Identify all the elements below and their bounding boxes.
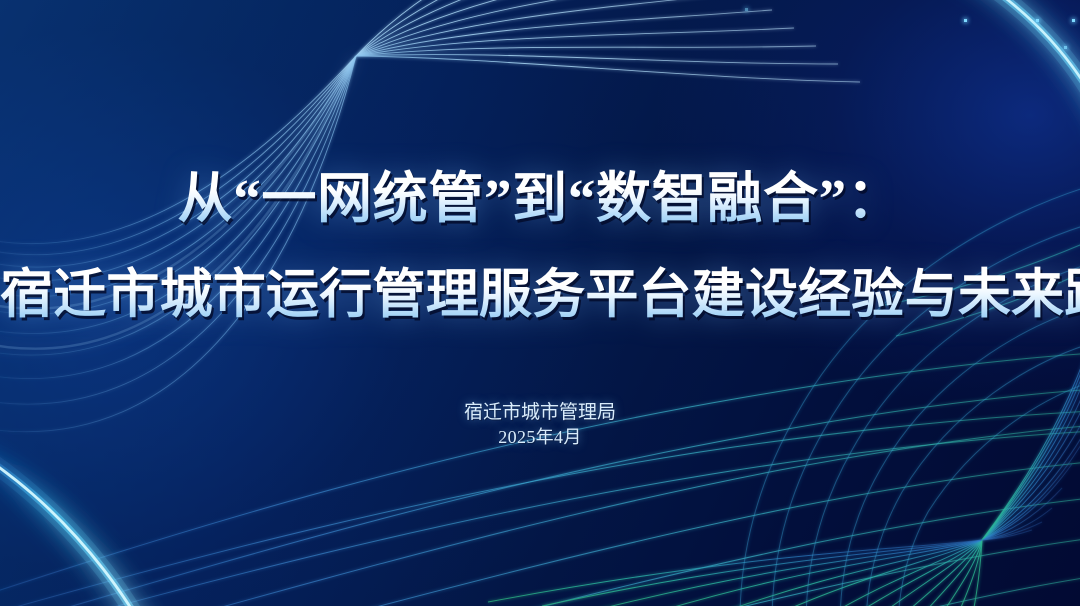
presentation-cover-slide: 从“一网统管”到“数智融合”： 宿迁市城市运行管理服务平台建设经验与未来路径 宿… — [0, 0, 1080, 606]
subtitle-date: 2025年4月 — [0, 425, 1080, 450]
top-right-glow-arc — [880, 0, 1080, 238]
cover-text-block: 从“一网统管”到“数智融合”： 宿迁市城市运行管理服务平台建设经验与未来路径 宿… — [0, 0, 1080, 606]
particle-dot — [745, 8, 748, 11]
center-right-teal-curve — [880, 232, 1080, 336]
page-title-line-2: 宿迁市城市运行管理服务平台建设经验与未来路径 — [0, 264, 1080, 326]
subtitle-organization: 宿迁市城市管理局 — [0, 400, 1080, 425]
particle-dot — [1072, 19, 1075, 22]
bottom-left-glow-arc — [0, 430, 168, 606]
particle-dots — [0, 0, 1080, 606]
bottom-right-line-fan — [488, 184, 1080, 606]
page-title-line-1: 从“一网统管”到“数智融合”： — [0, 168, 1080, 230]
right-arc-lines — [740, 180, 1080, 606]
background-decoration — [0, 0, 1080, 606]
top-left-line-fan — [0, 0, 860, 432]
bottom-sweep-lines — [0, 352, 1080, 606]
particle-dot — [1036, 19, 1039, 22]
particle-dot — [964, 19, 967, 22]
particle-dot — [1064, 46, 1067, 49]
top-left-ribbon — [0, 56, 356, 349]
subtitle-block: 宿迁市城市管理局 2025年4月 — [0, 400, 1080, 450]
